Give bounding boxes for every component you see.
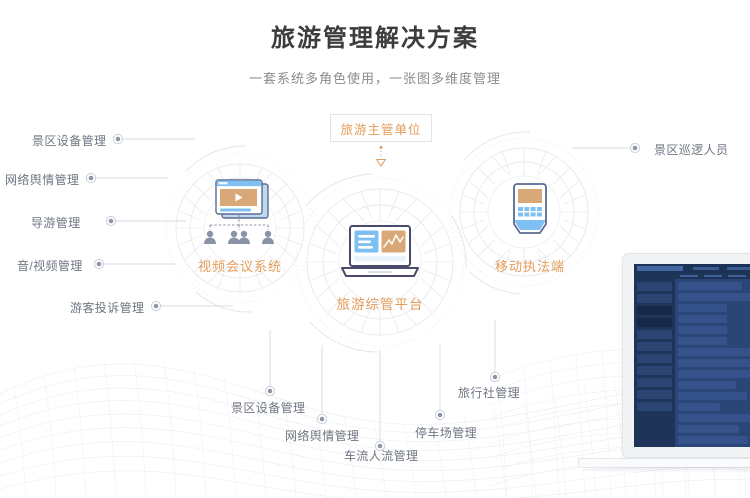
right-label-1[interactable]: 景区巡逻人员	[654, 141, 728, 158]
laptop-dashboard-icon	[318, 222, 442, 284]
laptop-screen-dashboard	[634, 264, 750, 447]
bottom-label-2[interactable]: 网络舆情管理	[285, 427, 359, 444]
left-label-5[interactable]: 游客投诉管理	[70, 299, 144, 316]
laptop-mockup	[622, 253, 750, 498]
node-caption-tourism-platform: 旅游综管平台	[318, 293, 442, 313]
dashboard-main	[634, 279, 750, 447]
infographic-canvas: 旅游管理解决方案 一套系统多角色使用，一张图多维度管理	[0, 0, 750, 498]
authority-unit-box[interactable]: 旅游主管单位	[330, 114, 432, 142]
bottom-connectors	[270, 320, 495, 441]
left-label-4[interactable]: 音/视频管理	[17, 257, 83, 274]
node-caption-video-conference: 视频会议系统	[180, 256, 300, 275]
dashboard-sidebar	[634, 279, 675, 447]
bottom-label-1[interactable]: 景区设备管理	[231, 399, 305, 416]
left-connector-dots	[86, 134, 160, 310]
header: 旅游管理解决方案 一套系统多角色使用，一张图多维度管理	[0, 24, 750, 87]
node-tourism-platform[interactable]: 旅游综管平台	[318, 222, 442, 313]
dashboard-content	[675, 279, 750, 447]
right-connector-dots	[630, 143, 639, 152]
left-label-3[interactable]: 导游管理	[31, 214, 81, 231]
left-label-2[interactable]: 网络舆情管理	[5, 171, 79, 188]
bottom-label-4[interactable]: 停车场管理	[415, 424, 477, 441]
page-title: 旅游管理解决方案	[0, 24, 750, 54]
authority-arrow-icon	[374, 146, 388, 168]
node-mobile-enforcement[interactable]: 移动执法端	[470, 178, 590, 275]
node-caption-mobile-enforcement: 移动执法端	[470, 256, 590, 275]
page-subtitle: 一套系统多角色使用，一张图多维度管理	[0, 68, 750, 87]
bottom-label-3[interactable]: 车流人流管理	[344, 447, 418, 464]
handheld-device-icon	[470, 178, 590, 250]
left-label-1[interactable]: 景区设备管理	[32, 132, 106, 149]
node-video-conference[interactable]: 视频会议系统	[180, 178, 300, 275]
laptop-shadow	[582, 467, 750, 473]
dashboard-topbar	[634, 264, 750, 273]
authority-unit-label: 旅游主管单位	[340, 119, 421, 138]
video-window-icon	[180, 178, 300, 250]
bottom-label-5[interactable]: 旅行社管理	[458, 384, 520, 401]
